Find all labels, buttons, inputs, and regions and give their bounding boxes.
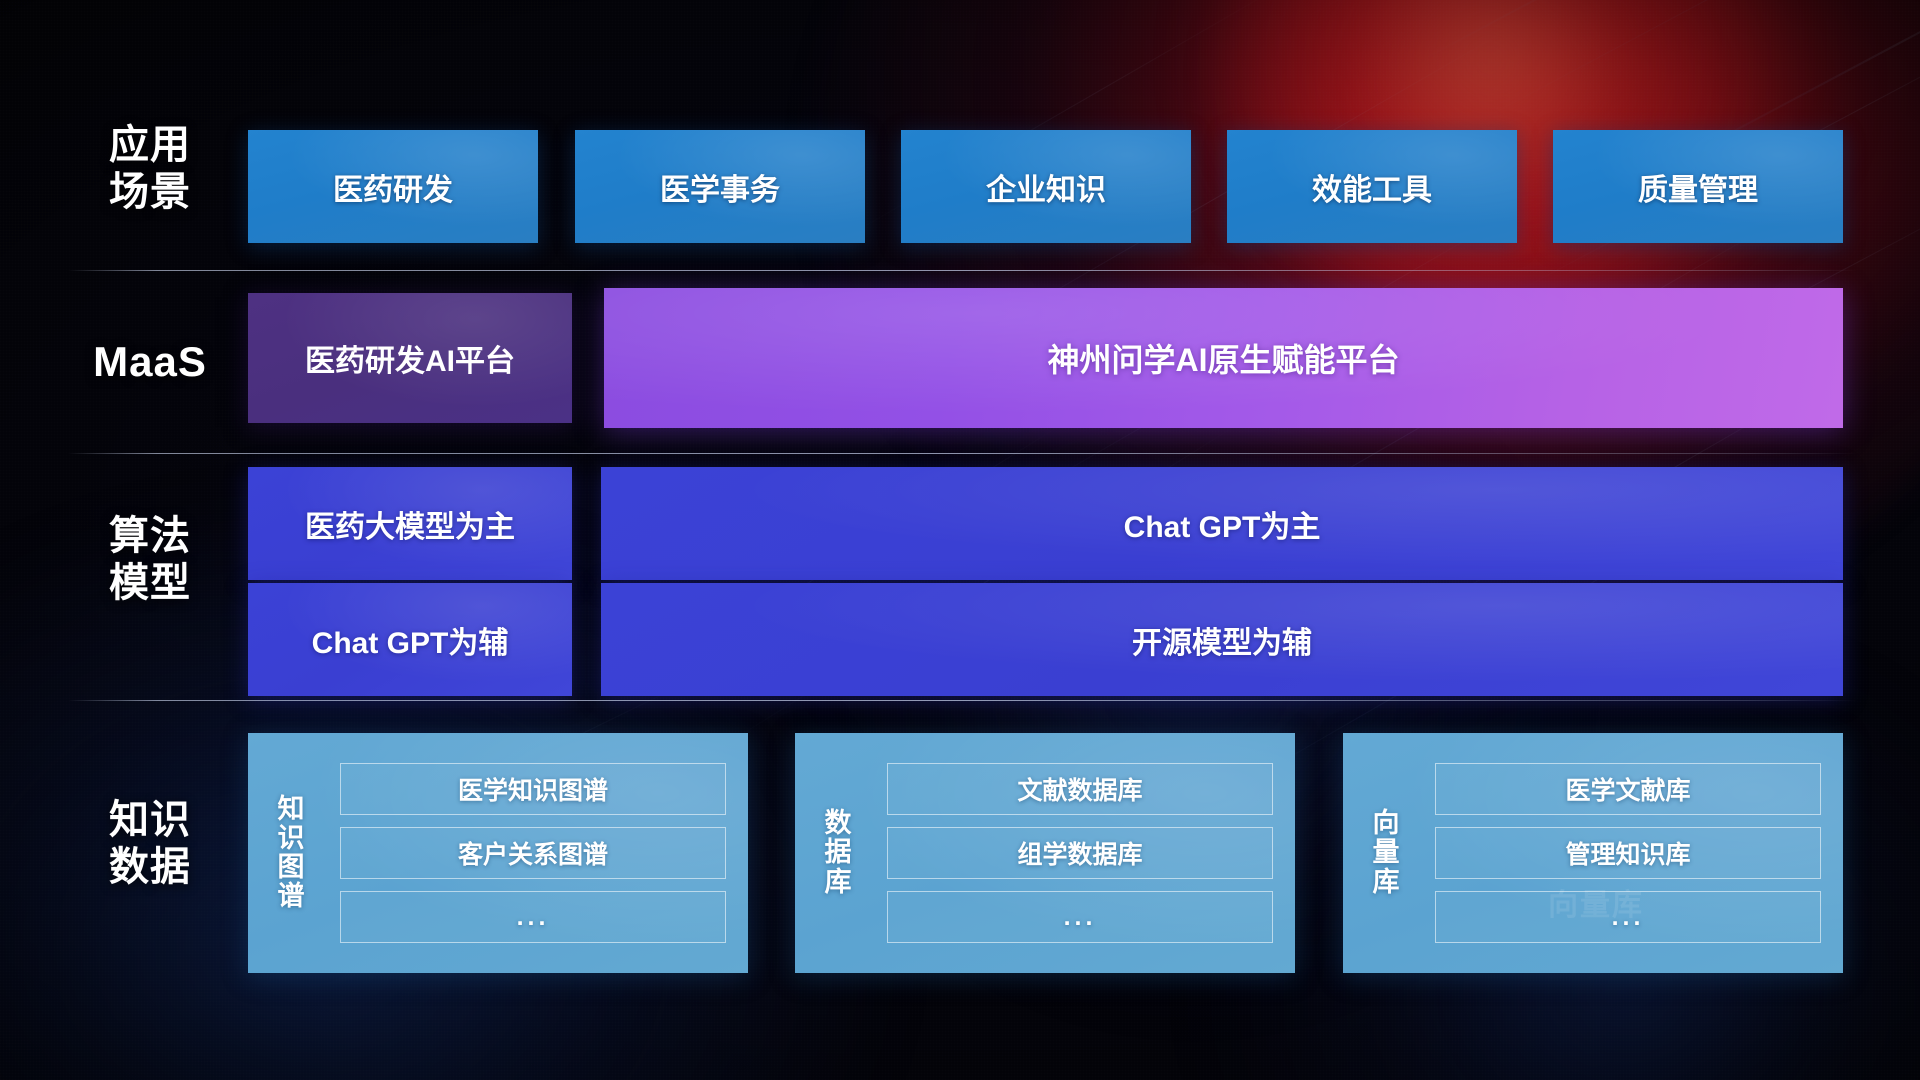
knowledge-item-label: ...	[517, 903, 550, 932]
algo-box-label: Chat GPT为辅	[312, 618, 509, 662]
knowledge-card-vector-store[interactable]: 向 量 库 医学文献库 管理知识库 ...	[1343, 733, 1843, 973]
row-label-algorithm-model: 算法 模型	[60, 513, 240, 607]
app-box-efficiency-tools[interactable]: 效能工具	[1227, 130, 1517, 243]
app-box-label: 医学事务	[660, 165, 780, 209]
row-label-line: 算法	[60, 513, 240, 560]
knowledge-item[interactable]: 组学数据库	[887, 827, 1273, 879]
knowledge-item-label: 医学文献库	[1565, 771, 1690, 807]
knowledge-item[interactable]: 医学文献库	[1435, 763, 1821, 815]
divider-3	[68, 700, 1858, 701]
vlabel-char: 图	[278, 853, 305, 882]
vlabel-char: 据	[825, 838, 852, 867]
divider-2	[68, 453, 1858, 454]
row-label-line: 数据	[60, 844, 240, 891]
app-box-label: 质量管理	[1638, 165, 1758, 209]
divider-1	[68, 270, 1858, 271]
row-label-application-scenario: 应用 场景	[60, 122, 240, 216]
vlabel-char: 向	[1373, 809, 1400, 838]
knowledge-item-label: 管理知识库	[1565, 835, 1690, 871]
maas-box-label: 神州问学AI原生赋能平台	[1047, 335, 1399, 381]
vlabel-char: 谱	[278, 882, 305, 911]
knowledge-item[interactable]: 文献数据库	[887, 763, 1273, 815]
diagram-stage: 应用 场景 医药研发 医学事务 企业知识 效能工具 质量管理 MaaS 医药研发…	[0, 0, 1920, 1080]
maas-box-shenzhou-wenxue-platform[interactable]: 神州问学AI原生赋能平台	[604, 288, 1843, 428]
vlabel-char: 识	[278, 824, 305, 853]
knowledge-card-vertical-label: 向 量 库	[1343, 733, 1429, 973]
knowledge-item-more[interactable]: ...	[340, 891, 726, 943]
algo-box-drug-llm-primary[interactable]: 医药大模型为主	[248, 467, 572, 580]
row-label-line: 知识	[60, 797, 240, 844]
vlabel-char: 库	[825, 868, 852, 897]
maas-box-drug-rd-ai-platform[interactable]: 医药研发AI平台	[248, 293, 572, 423]
algo-box-opensource-secondary[interactable]: 开源模型为辅	[601, 583, 1843, 696]
app-box-label: 医药研发	[333, 165, 453, 209]
vlabel-char: 数	[825, 809, 852, 838]
knowledge-item[interactable]: 医学知识图谱	[340, 763, 726, 815]
knowledge-item-label: ...	[1064, 903, 1097, 932]
knowledge-item-list: 医学文献库 管理知识库 ...	[1429, 733, 1843, 973]
knowledge-item-more[interactable]: ...	[1435, 891, 1821, 943]
app-box-quality-management[interactable]: 质量管理	[1553, 130, 1843, 243]
knowledge-card-knowledge-graph[interactable]: 知 识 图 谱 医学知识图谱 客户关系图谱 ...	[248, 733, 748, 973]
knowledge-card-database[interactable]: 数 据 库 文献数据库 组学数据库 ...	[795, 733, 1295, 973]
knowledge-item-label: ...	[1612, 903, 1645, 932]
knowledge-item-list: 文献数据库 组学数据库 ...	[881, 733, 1295, 973]
row-label-line: 应用	[60, 122, 240, 169]
row-label-maas: MaaS	[60, 337, 240, 387]
app-box-drug-rd[interactable]: 医药研发	[248, 130, 538, 243]
knowledge-item[interactable]: 客户关系图谱	[340, 827, 726, 879]
app-box-label: 效能工具	[1312, 165, 1432, 209]
knowledge-item-list: 医学知识图谱 客户关系图谱 ...	[334, 733, 748, 973]
row-label-line: 模型	[60, 560, 240, 607]
knowledge-item-label: 文献数据库	[1017, 771, 1142, 807]
knowledge-item-label: 客户关系图谱	[458, 835, 608, 871]
app-box-medical-affairs[interactable]: 医学事务	[575, 130, 865, 243]
row-label-line: MaaS	[60, 337, 240, 387]
algo-box-label: 医药大模型为主	[305, 502, 515, 546]
row-label-knowledge-data: 知识 数据	[60, 797, 240, 891]
knowledge-card-vertical-label: 数 据 库	[795, 733, 881, 973]
knowledge-item-label: 医学知识图谱	[458, 771, 608, 807]
algo-box-label: Chat GPT为主	[1124, 502, 1321, 546]
vlabel-char: 量	[1373, 838, 1400, 867]
vlabel-char: 库	[1373, 868, 1400, 897]
knowledge-item-more[interactable]: ...	[887, 891, 1273, 943]
knowledge-item-label: 组学数据库	[1017, 835, 1142, 871]
knowledge-card-vertical-label: 知 识 图 谱	[248, 733, 334, 973]
vlabel-char: 知	[278, 795, 305, 824]
row-label-line: 场景	[60, 169, 240, 216]
algo-box-label: 开源模型为辅	[1132, 618, 1312, 662]
algo-box-chatgpt-primary[interactable]: Chat GPT为主	[601, 467, 1843, 580]
app-box-label: 企业知识	[986, 165, 1106, 209]
maas-box-label: 医药研发AI平台	[305, 336, 515, 380]
algo-box-chatgpt-secondary[interactable]: Chat GPT为辅	[248, 583, 572, 696]
knowledge-item[interactable]: 管理知识库	[1435, 827, 1821, 879]
app-box-enterprise-knowledge[interactable]: 企业知识	[901, 130, 1191, 243]
